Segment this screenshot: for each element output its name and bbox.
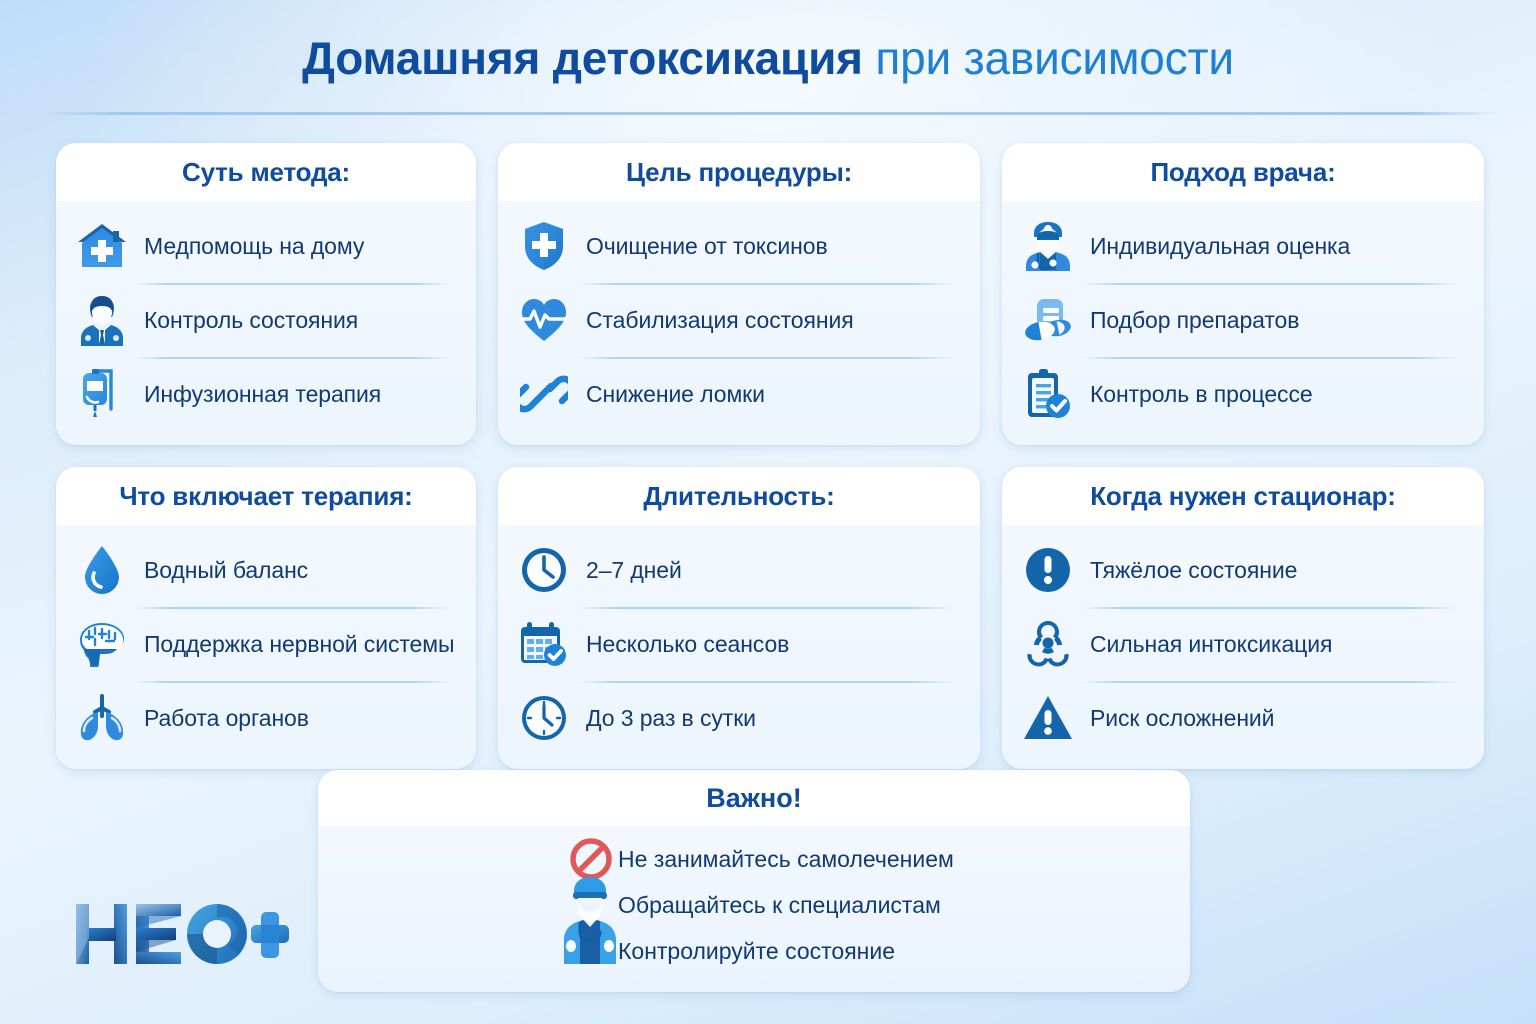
card-vazhno: Важно! Не заним [318, 770, 1190, 992]
warning-triangle-icon [1022, 690, 1074, 746]
broken-chain-icon [518, 366, 570, 422]
list-item: До 3 раз в сутки [518, 681, 960, 755]
list-item: Индивидуальная оценка [1022, 209, 1464, 283]
title-divider [38, 112, 1498, 115]
card-title: Цель процедуры: [510, 157, 968, 188]
list-item: Поддержка нервной системы [76, 607, 456, 681]
list-item-label: Риск осложнений [1090, 705, 1274, 732]
card-title: Подход врача: [1014, 157, 1472, 188]
list-item: Тяжёлое состояние [1022, 533, 1464, 607]
list-item: Обращайтесь к специалистам [618, 882, 1190, 928]
card-sut-metoda: Суть метода: Медпомощь на дому [56, 143, 476, 445]
list-item: Контроль состояния [76, 283, 456, 357]
card-header: Суть метода: [56, 143, 476, 201]
list-item: Очищение от токсинов [518, 209, 960, 283]
important-title: Важно! [330, 783, 1178, 814]
list-item: Контроль в процессе [1022, 357, 1464, 431]
list-item: 2–7 дней [518, 533, 960, 607]
biohazard-icon [1022, 616, 1074, 672]
list-item-label: До 3 раз в сутки [586, 705, 756, 732]
list-item-label: Подбор препаратов [1090, 307, 1299, 334]
card-title: Длительность: [510, 481, 968, 512]
list-item: Инфузионная терапия [76, 357, 456, 431]
page-title-bold: Домашняя детоксикация [302, 32, 863, 84]
list-item-label: Контроль состояния [144, 307, 358, 334]
shield-cross-icon [518, 218, 570, 274]
page-title: Домашняя детоксикация при зависимости [0, 34, 1536, 82]
card-body: Очищение от токсинов Стабилизация состоя… [498, 201, 980, 445]
important-body: Не занимайтесь самолечением Обращайтесь … [318, 826, 1190, 992]
card-header: Цель процедуры: [498, 143, 980, 201]
card-body: 2–7 дней [498, 525, 980, 769]
list-item-label: 2–7 дней [586, 557, 682, 584]
doctor-stethoscope-icon [1022, 218, 1074, 274]
list-item: Несколько сеансов [518, 607, 960, 681]
list-item-label: Медпомощь на дому [144, 233, 364, 260]
exclamation-circle-icon [1022, 542, 1074, 598]
card-body: Индивидуальная оценка Подбор препаратов [1002, 201, 1484, 445]
card-body: Водный баланс Поддержка нервной системы [56, 525, 476, 769]
clipboard-check-icon [1022, 366, 1074, 422]
card-dlitelnost: Длительность: 2–7 дней [498, 467, 980, 769]
page-header: Домашняя детоксикация при зависимости [0, 0, 1536, 82]
card-body: Тяжёлое состояние [1002, 525, 1484, 769]
heart-pulse-icon [518, 292, 570, 348]
list-item-label: Обращайтесь к специалистам [618, 892, 941, 919]
neo-plus-logo [74, 898, 289, 972]
list-item-label: Контролируйте состояние [618, 938, 895, 965]
card-kogda-nuzhen-stacionar: Когда нужен стационар: Тяжёлое состояние [1002, 467, 1484, 769]
list-item: Водный баланс [76, 533, 456, 607]
list-item-label: Тяжёлое состояние [1090, 557, 1297, 584]
list-item: Сильная интоксикация [1022, 607, 1464, 681]
important-header: Важно! [318, 770, 1190, 826]
card-header: Что включает терапия: [56, 467, 476, 525]
list-item-label: Контроль в процессе [1090, 381, 1313, 408]
list-item: Медпомощь на дому [76, 209, 456, 283]
page-title-light: при зависимости [863, 32, 1234, 84]
list-item-label: Индивидуальная оценка [1090, 233, 1350, 260]
list-item-label: Несколько сеансов [586, 631, 789, 658]
cards-grid: Суть метода: Медпомощь на дому [56, 143, 1484, 769]
list-item-label: Водный баланс [144, 557, 308, 584]
card-title: Что включает терапия: [68, 481, 464, 512]
list-item: Не занимайтесь самолечением [618, 836, 1190, 882]
card-header: Когда нужен стационар: [1002, 467, 1484, 525]
calendar-check-icon [518, 616, 570, 672]
list-item: Работа органов [76, 681, 456, 755]
list-item: Подбор препаратов [1022, 283, 1464, 357]
lungs-icon [76, 690, 128, 746]
list-item-label: Сильная интоксикация [1090, 631, 1332, 658]
doctor-person-icon [76, 292, 128, 348]
list-item-label: Не занимайтесь самолечением [618, 846, 954, 873]
brain-icon [76, 616, 128, 672]
list-item-label: Поддержка нервной системы [144, 631, 454, 658]
list-item-label: Снижение ломки [586, 381, 765, 408]
water-drop-icon [76, 542, 128, 598]
list-item-label: Стабилизация состояния [586, 307, 854, 334]
card-podhod-vracha: Подход врача: Инд [1002, 143, 1484, 445]
card-title: Суть метода: [68, 157, 464, 188]
clock-outline-icon [518, 690, 570, 746]
list-item: Стабилизация состояния [518, 283, 960, 357]
clock-filled-icon [518, 542, 570, 598]
list-item-label: Очищение от токсинов [586, 233, 828, 260]
list-item: Снижение ломки [518, 357, 960, 431]
card-header: Подход врача: [1002, 143, 1484, 201]
card-header: Длительность: [498, 467, 980, 525]
pills-medication-icon [1022, 292, 1074, 348]
list-item-label: Инфузионная терапия [144, 381, 381, 408]
iv-drip-icon [76, 366, 128, 422]
list-item: Риск осложнений [1022, 681, 1464, 755]
important-list: Не занимайтесь самолечением Обращайтесь … [318, 836, 1190, 974]
card-chto-vkluchaet-terapiya: Что включает терапия: Водный баланс [56, 467, 476, 769]
house-cross-icon [76, 218, 128, 274]
card-title: Когда нужен стационар: [1014, 481, 1472, 512]
card-body: Медпомощь на дому Контроль состоя [56, 201, 476, 445]
card-cel-procedury: Цель процедуры: Очищение от токсинов [498, 143, 980, 445]
list-item-label: Работа органов [144, 705, 309, 732]
list-item: Контролируйте состояние [618, 928, 1190, 974]
